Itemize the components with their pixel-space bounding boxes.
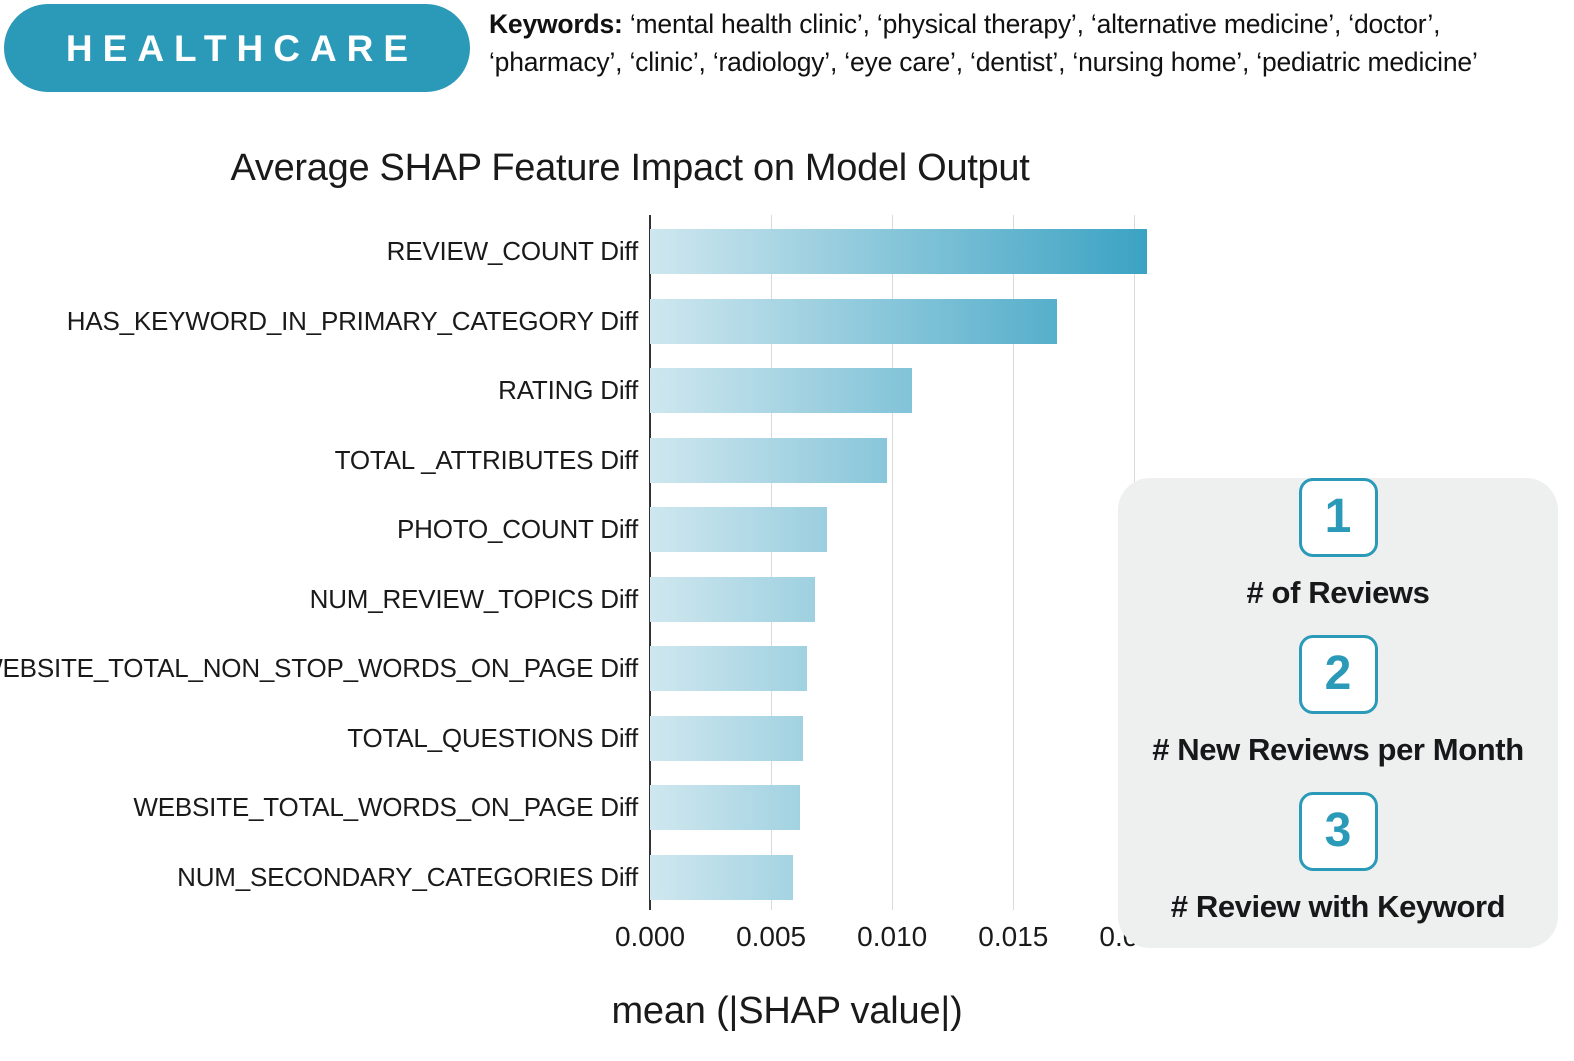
rank-number-badge: 1 <box>1299 478 1378 557</box>
bar-category-label: WEBSITE_TOTAL_WORDS_ON_PAGE Diff <box>133 785 638 830</box>
bar-row: HAS_KEYWORD_IN_PRIMARY_CATEGORY Diff <box>650 299 1057 344</box>
keywords-label: Keywords: <box>489 9 623 39</box>
bar-category-label: NUM_SECONDARY_CATEGORIES Diff <box>177 855 638 900</box>
bar-category-label: TOTAL _ATTRIBUTES Diff <box>335 438 638 483</box>
chart-title: Average SHAP Feature Impact on Model Out… <box>0 147 1260 190</box>
bar <box>650 438 887 483</box>
bar-category-label: HAS_KEYWORD_IN_PRIMARY_CATEGORY Diff <box>67 299 638 344</box>
bar-category-label: PHOTO_COUNT Diff <box>397 507 638 552</box>
bar <box>650 716 803 761</box>
plot-area: REVIEW_COUNT DiffHAS_KEYWORD_IN_PRIMARY_… <box>650 215 1195 910</box>
rank-item-label: # New Reviews per Month <box>1152 732 1524 768</box>
bar-row: REVIEW_COUNT Diff <box>650 229 1147 274</box>
bar-category-label: TOTAL_QUESTIONS Diff <box>347 716 638 761</box>
bar <box>650 368 912 413</box>
bar <box>650 507 827 552</box>
bar <box>650 229 1147 274</box>
bar <box>650 646 807 691</box>
x-axis-title: mean (|SHAP value|) <box>0 990 1574 1033</box>
rank-item: 3# Review with Keyword <box>1118 792 1558 949</box>
rank-number-badge: 3 <box>1299 792 1378 871</box>
bar-row: WEBSITE_TOTAL_NON_STOP_WORDS_ON_PAGE Dif… <box>650 646 807 691</box>
keywords-text: ‘mental health clinic’, ‘physical therap… <box>489 9 1478 77</box>
rank-item: 1# of Reviews <box>1118 478 1558 635</box>
bar <box>650 299 1057 344</box>
top-drivers-card: 1# of Reviews2# New Reviews per Month3# … <box>1118 478 1558 948</box>
bar-row: NUM_SECONDARY_CATEGORIES Diff <box>650 855 793 900</box>
bar-category-label: WEBSITE_TOTAL_NON_STOP_WORDS_ON_PAGE Dif… <box>0 646 638 691</box>
bar-row: TOTAL_QUESTIONS Diff <box>650 716 803 761</box>
bar-row: NUM_REVIEW_TOPICS Diff <box>650 577 815 622</box>
category-badge-label: HEALTHCARE <box>56 30 418 67</box>
rank-item-label: # of Reviews <box>1246 575 1429 611</box>
bar-category-label: RATING Diff <box>498 368 638 413</box>
bar-category-label: REVIEW_COUNT Diff <box>387 229 638 274</box>
header: HEALTHCARE Keywords: ‘mental health clin… <box>0 0 1574 105</box>
bar-row: RATING Diff <box>650 368 912 413</box>
rank-number-badge: 2 <box>1299 635 1378 714</box>
bar <box>650 855 793 900</box>
rank-item-label: # Review with Keyword <box>1171 889 1505 925</box>
keywords-block: Keywords: ‘mental health clinic’, ‘physi… <box>489 6 1571 81</box>
rank-item: 2# New Reviews per Month <box>1118 635 1558 792</box>
bar-category-label: NUM_REVIEW_TOPICS Diff <box>310 577 638 622</box>
bar-row: TOTAL _ATTRIBUTES Diff <box>650 438 887 483</box>
bar-row: WEBSITE_TOTAL_WORDS_ON_PAGE Diff <box>650 785 800 830</box>
category-badge: HEALTHCARE <box>4 4 470 92</box>
bar <box>650 577 815 622</box>
bar-row: PHOTO_COUNT Diff <box>650 507 827 552</box>
bar <box>650 785 800 830</box>
shap-bar-chart: Average SHAP Feature Impact on Model Out… <box>0 105 1574 1061</box>
